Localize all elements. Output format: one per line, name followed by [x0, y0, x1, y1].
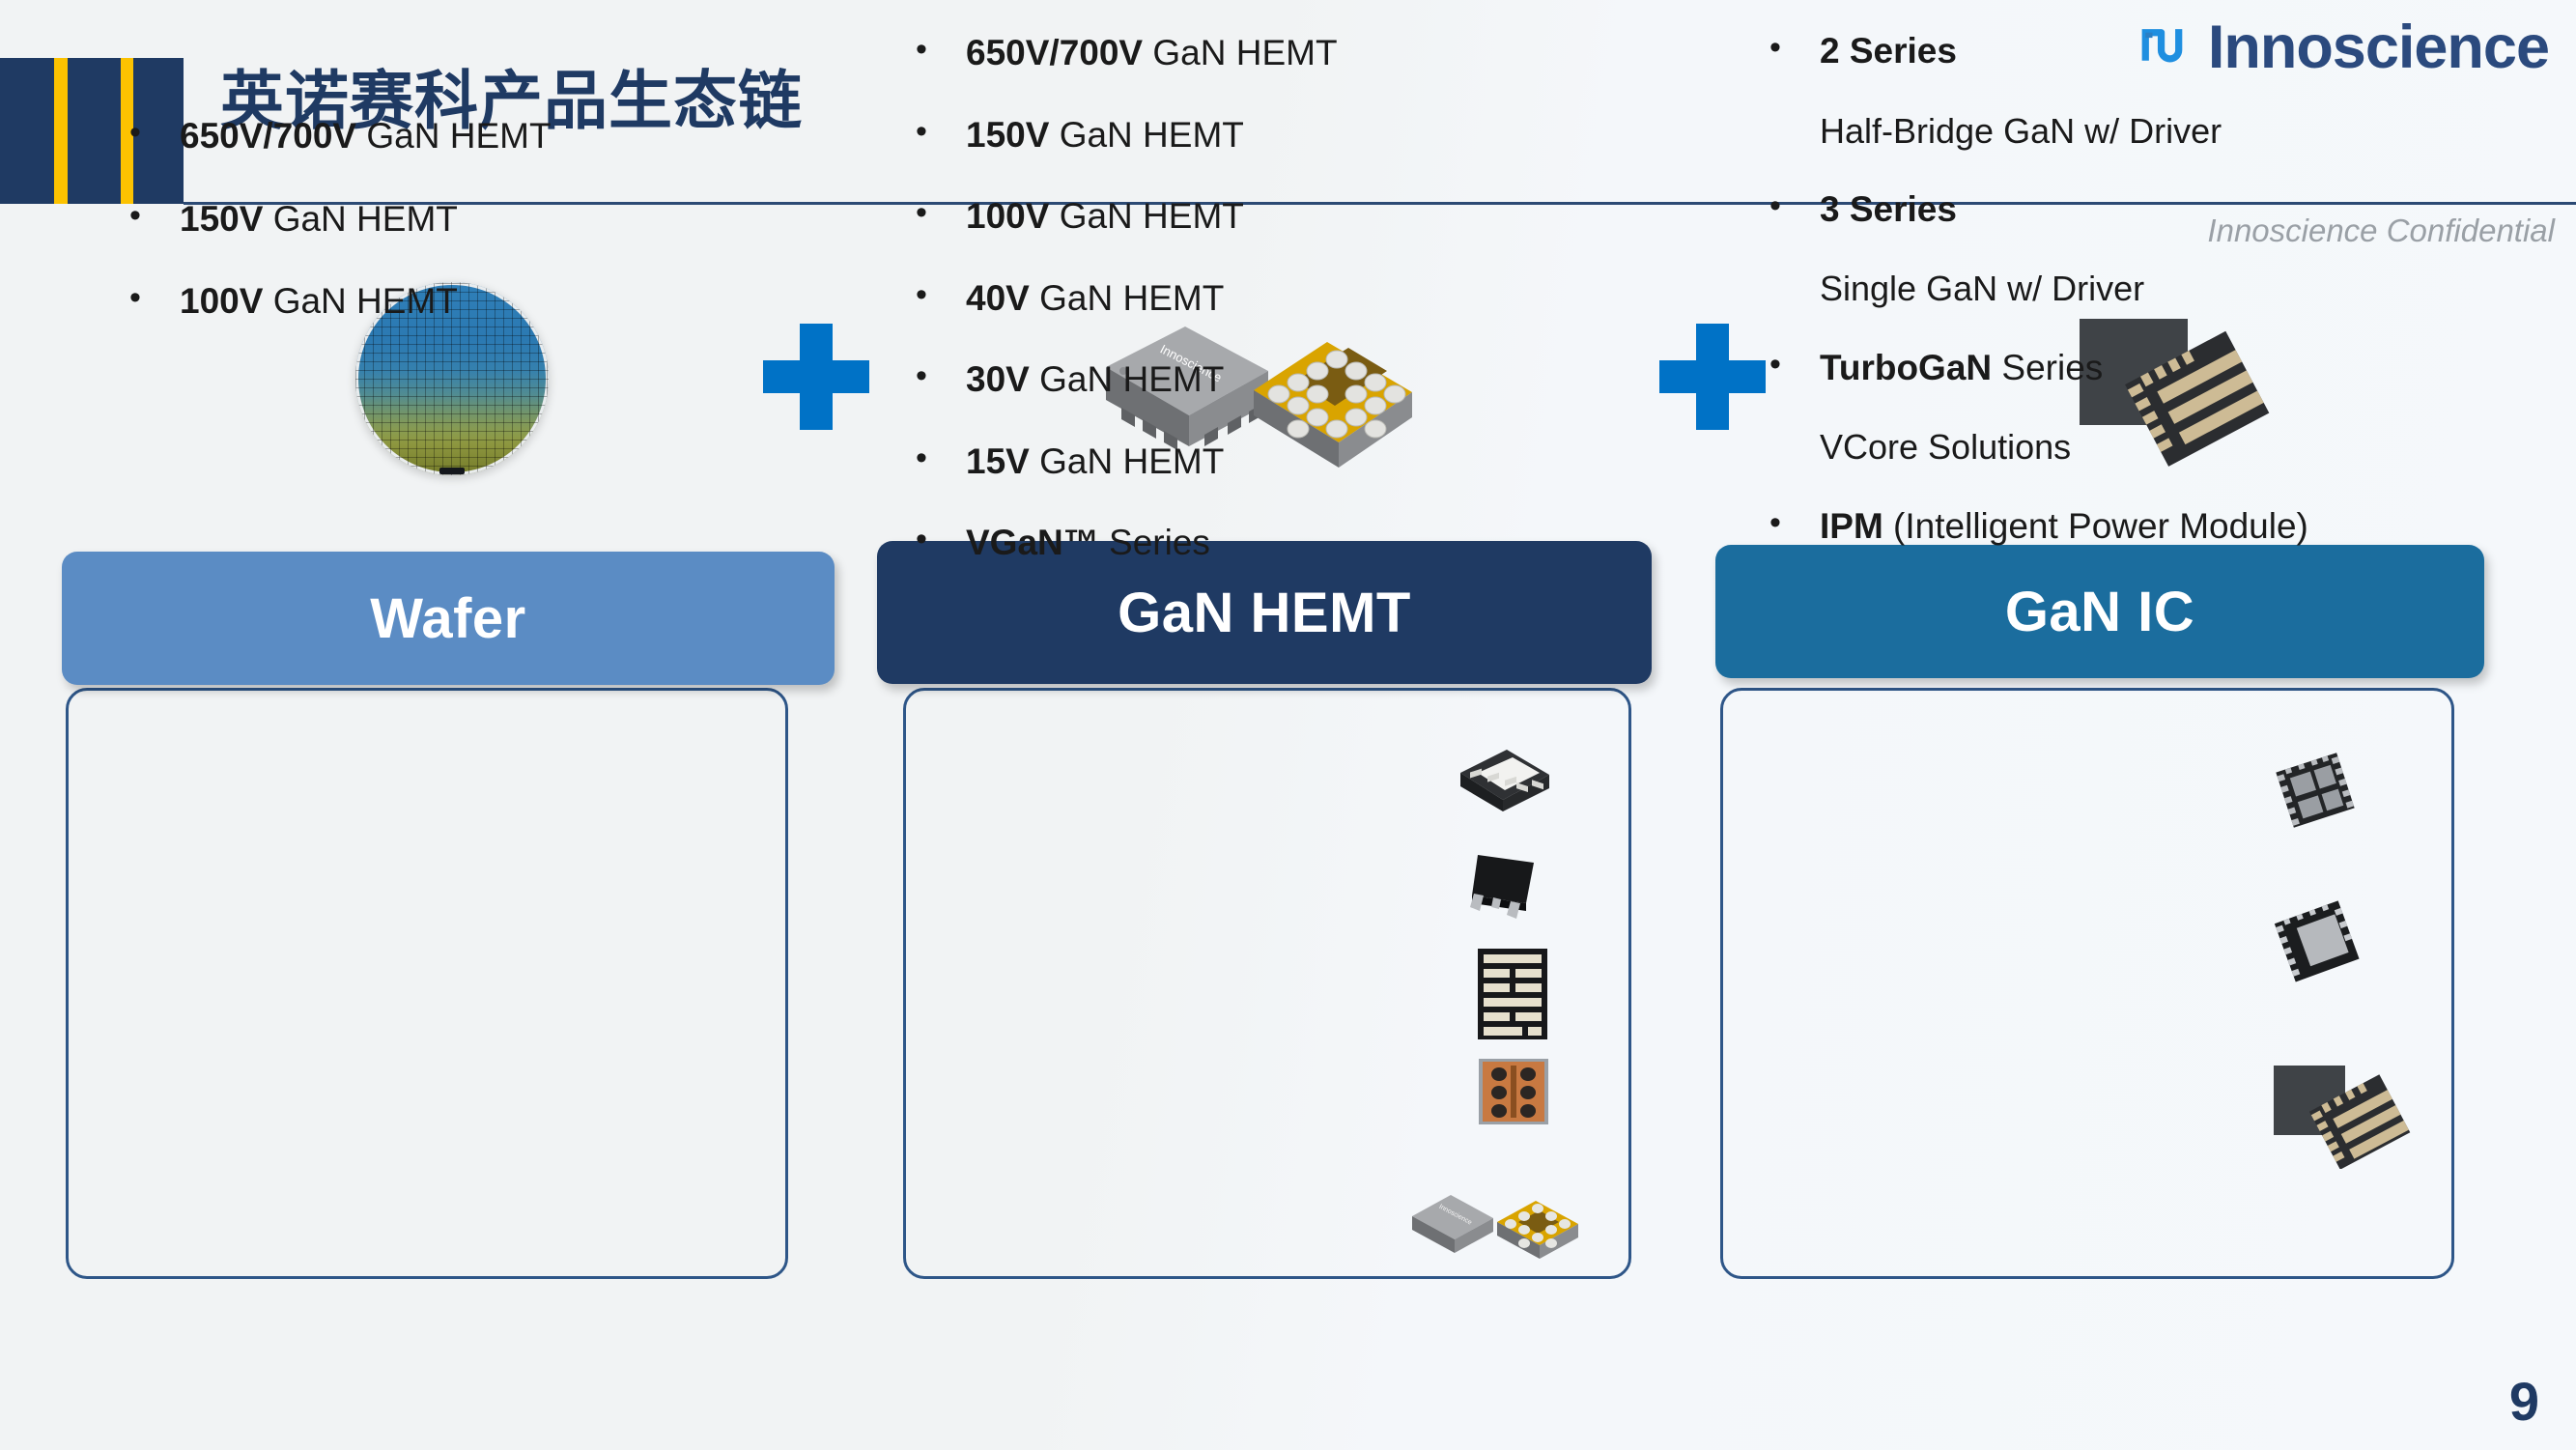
list-item-sub: VCore Solutions — [1820, 427, 2308, 467]
column-wafer-header[interactable]: Wafer — [62, 552, 835, 685]
list-item: 650V/700V GaN HEMT — [180, 116, 552, 157]
list-item: TurboGaN Series — [1820, 348, 2308, 389]
wafer-feature-list: 650V/700V GaN HEMT 150V GaN HEMT 100V Ga… — [180, 116, 552, 364]
plus-icon-1 — [763, 324, 869, 430]
list-item: 15V GaN HEMT — [966, 441, 1338, 483]
list-item: 3 Series — [1820, 189, 2308, 231]
list-item: 30V GaN HEMT — [966, 359, 1338, 401]
title-decoration-block — [0, 58, 184, 204]
copper-module-image — [1478, 1058, 1549, 1125]
list-item: 100V GaN HEMT — [180, 281, 552, 323]
list-item: VGaN™ Series — [966, 523, 1338, 564]
power-qfn-package-image — [1451, 744, 1557, 826]
dpak-package-image — [1458, 845, 1550, 927]
plus-icon-2 — [1659, 324, 1766, 430]
title-stripe-gold-1 — [54, 58, 68, 204]
list-item-sub: Single GaN w/ Driver — [1820, 269, 2308, 308]
column-wafer-body — [66, 688, 788, 1279]
gan-hemt-feature-list: 650V/700V GaN HEMT 150V GaN HEMT 100V Ga… — [966, 33, 1338, 605]
gan-ic-feature-list: 2 Series Half-Bridge GaN w/ Driver 3 Ser… — [1820, 31, 2308, 585]
list-item: 40V GaN HEMT — [966, 278, 1338, 320]
list-item: 150V GaN HEMT — [180, 199, 552, 241]
wafer-notch — [439, 468, 465, 474]
slide-canvas: 英诺赛科产品生态链 Innoscience Innoscience Confid… — [0, 0, 2576, 1450]
qfn-and-bga-package-image: Innoscience — [1410, 1183, 1584, 1261]
list-item: 650V/700V GaN HEMT — [966, 33, 1338, 74]
list-item: 100V GaN HEMT — [966, 196, 1338, 238]
title-stripe-navy-1 — [0, 58, 54, 204]
single-gan-ic-package-image — [2270, 898, 2366, 985]
list-item: IPM (Intelligent Power Module) — [1820, 506, 2308, 548]
page-number: 9 — [2509, 1370, 2539, 1433]
dual-gan-ic-package-image — [2270, 752, 2362, 829]
list-item: 2 Series — [1820, 31, 2308, 72]
list-item: 150V GaN HEMT — [966, 115, 1338, 156]
list-item-sub: Half-Bridge GaN w/ Driver — [1820, 111, 2308, 151]
lga-die-image — [1476, 947, 1549, 1041]
turbogan-module-image — [2268, 1058, 2413, 1169]
title-stripe-navy-2 — [68, 58, 121, 204]
